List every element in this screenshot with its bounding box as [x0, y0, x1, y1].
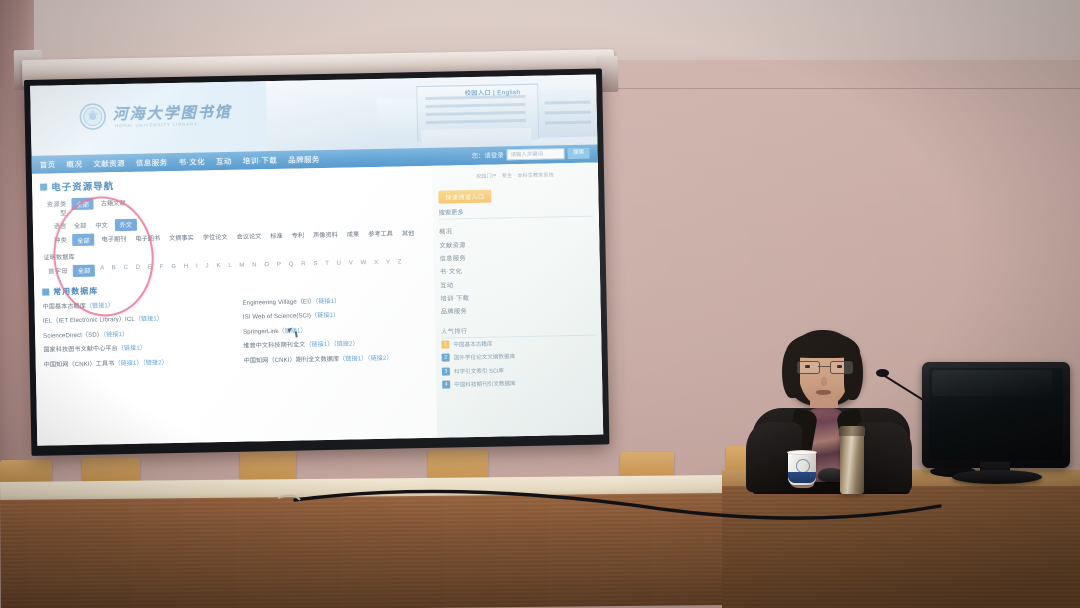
- nav-search-group: 您：请登录 请输入关键词 搜索: [472, 148, 590, 161]
- nav-item-3[interactable]: 信息服务: [136, 157, 168, 169]
- search-input[interactable]: 请输入关键词: [506, 148, 564, 160]
- section-title: 电子资源导航: [51, 178, 114, 193]
- db-item[interactable]: 中国知网（CNKI）工具书（链接1）（链接2）: [44, 355, 230, 368]
- db-item-name: 中国知网（CNKI）期刊全文数据库: [244, 355, 340, 364]
- nav-item-1[interactable]: 概况: [66, 158, 82, 169]
- filter-tag-2-4[interactable]: 学位论文: [201, 231, 230, 243]
- sidebar-link-list: 概况文献资源信息服务书·文化互动培训·下载品牌服务: [439, 222, 595, 319]
- db-item-link[interactable]: （链接1）: [315, 297, 340, 305]
- presenter-nose: [821, 377, 827, 386]
- filter-tag-2-10[interactable]: 参考工具: [366, 228, 395, 240]
- site-title-cn: 河海大学图书馆: [112, 101, 231, 124]
- filter-tag-2-11[interactable]: 其他: [400, 227, 417, 238]
- resource-navigation-panel: 电子资源导航 资源类型全部古籍文献语言全部中文外文种类全部电子期刊电子图书文摘事…: [32, 166, 437, 446]
- db-item-link[interactable]: （链接1）: [114, 359, 142, 367]
- db-item-name: 中国知网（CNKI）工具书: [44, 360, 115, 368]
- nav-item-7[interactable]: 品牌服务: [288, 154, 320, 166]
- library-crest-logo: [78, 102, 107, 131]
- db-item-name: 维普中文科技期刊全文: [243, 341, 305, 349]
- page-body: 电子资源导航 资源类型全部古籍文献语言全部中文外文种类全部电子期刊电子图书文摘事…: [32, 163, 603, 446]
- search-button[interactable]: 搜索: [567, 148, 589, 159]
- db-item-link[interactable]: （链接2）: [334, 340, 359, 348]
- filter-tag-2-6[interactable]: 标准: [268, 230, 285, 241]
- db-item[interactable]: 中国知网（CNKI）期刊全文数据库（链接1）（链接2）: [244, 351, 430, 364]
- nav-item-5[interactable]: 互动: [216, 155, 232, 166]
- monitor-stand-base: [952, 470, 1042, 484]
- db-item-link[interactable]: （链接1）: [86, 302, 114, 310]
- filter-label-3: 首字母: [42, 265, 68, 276]
- db-column-right: Engineering Village（EI）（链接1）ISI Web of S…: [242, 293, 429, 364]
- rank-list: 1中国基本古籍库2国外学位论文文摘数据库3科学引文索引 SCI库4中国科技期刊引…: [441, 335, 596, 391]
- db-item[interactable]: 中国基本古籍库（链接1）: [42, 297, 228, 310]
- microphone-head-icon: [876, 369, 889, 377]
- lecture-room-scene: 河海大学图书馆 HOHAI UNIVERSITY LIBRARY 校园入口 | …: [0, 0, 1080, 608]
- rank-number-badge: 1: [441, 341, 449, 349]
- filter-tag-2-9[interactable]: 成果: [345, 228, 362, 239]
- db-columns: 中国基本古籍库（链接1）IEL（IET Electronic Library）I…: [42, 293, 435, 368]
- filter-tag-2-8[interactable]: 声像资料: [311, 229, 340, 241]
- thermos-flask: [840, 432, 864, 494]
- cup-rim: [787, 450, 817, 455]
- building-block-3: [376, 98, 421, 141]
- db-item-link[interactable]: （链接1）: [311, 312, 339, 320]
- login-status-label[interactable]: 您：请登录: [472, 150, 504, 160]
- nav-item-2[interactable]: 文献资源: [93, 157, 125, 169]
- filter-row-2: 种类全部电子期刊电子图书文摘事实学位论文会议论文标准专利声像资料成果参考工具其他…: [41, 227, 433, 263]
- wall-seam-line: [560, 88, 1080, 89]
- rank-item-3[interactable]: 4中国科技期刊引文数据库: [442, 375, 596, 391]
- thermos-cap: [839, 426, 865, 436]
- db-item[interactable]: ScienceDirect（SD）（链接1）: [43, 326, 229, 339]
- monitor-glare: [932, 370, 1052, 396]
- filter-tag-0-0[interactable]: 全部: [71, 198, 94, 210]
- building-plaza: [421, 128, 531, 148]
- db-item[interactable]: IEL（IET Electronic Library）ICL（链接1）: [43, 312, 229, 325]
- db-item-link[interactable]: （链接2）: [367, 354, 392, 362]
- nav-item-0[interactable]: 首页: [40, 159, 56, 170]
- filter-rows: 资源类型全部古籍文献语言全部中文外文种类全部电子期刊电子图书文摘事实学位论文会议…: [40, 191, 433, 277]
- db-item-link[interactable]: （链接1）: [103, 330, 128, 338]
- chair-back-1: [0, 460, 52, 482]
- cup-logo-icon: [796, 459, 810, 473]
- db-item[interactable]: ISI Web of Science(SCI)（链接1）: [243, 308, 429, 321]
- db-marker-icon: [42, 288, 49, 295]
- sidebar-link-6[interactable]: 品牌服务: [441, 302, 595, 318]
- rank-item-label: 中国基本古籍库: [453, 340, 492, 349]
- presenter-mouth: [816, 390, 831, 395]
- filter-tag-2-5[interactable]: 会议论文: [234, 230, 263, 242]
- site-title-en: HOHAI UNIVERSITY LIBRARY: [115, 122, 198, 129]
- db-item-name: 中国基本古籍库: [42, 302, 85, 310]
- db-item-link[interactable]: （链接1）: [118, 345, 146, 353]
- db-item[interactable]: 维普中文科技期刊全文（链接1）（链接2）: [243, 337, 429, 350]
- filter-label-1: 语言: [41, 220, 67, 231]
- db-item-name: 国家科技图书文献中心平台: [43, 345, 117, 353]
- library-website: 河海大学图书馆 HOHAI UNIVERSITY LIBRARY 校园入口 | …: [30, 75, 603, 446]
- filter-tag-2-0[interactable]: 全部: [72, 234, 95, 246]
- filter-tag-3-0[interactable]: 全部: [73, 264, 96, 276]
- computer-monitor[interactable]: [922, 362, 1070, 484]
- quick-access-badge[interactable]: 快速通道入口: [438, 190, 491, 204]
- db-item-name: Engineering Village（EI）: [242, 298, 315, 306]
- filter-tag-1-0[interactable]: 全部: [72, 219, 89, 230]
- rank-number-badge: 2: [442, 354, 450, 362]
- sidebar-search-field[interactable]: 搜索更多: [439, 205, 593, 220]
- filter-tag-1-2[interactable]: 外文: [115, 218, 138, 230]
- db-item-name: SpringerLink: [243, 327, 279, 335]
- right-sidebar: 校园门户 · 新生 · 本科生教务系统 快速通道入口 搜索更多 概况文献资源信息…: [432, 163, 603, 438]
- cup-band: [788, 472, 816, 483]
- db-item-link[interactable]: （链接1）: [339, 355, 367, 363]
- campus-building-photo: [266, 75, 597, 152]
- filter-tag-2-2[interactable]: 电子图书: [133, 232, 162, 244]
- db-item[interactable]: SpringerLink（链接1）: [243, 322, 429, 335]
- rank-item-label: 科学引文索引 SCI库: [454, 366, 504, 375]
- sidebar-note: 校园门户 · 新生 · 本科生教务系统: [438, 171, 592, 181]
- nav-item-6[interactable]: 培训·下载: [243, 154, 278, 166]
- section-header: 电子资源导航: [40, 172, 432, 194]
- db-item-name: IEL（IET Electronic Library）ICL: [43, 316, 135, 325]
- podium-front-panel: [722, 486, 1080, 608]
- top-utility-links[interactable]: 校园入口 | English: [465, 87, 521, 97]
- monitor-bezel: [922, 362, 1070, 468]
- db-item-link[interactable]: （链接1）: [135, 315, 163, 323]
- nav-item-4[interactable]: 书·文化: [178, 156, 205, 168]
- filter-tag-0-1[interactable]: 古籍文献: [99, 197, 128, 209]
- presenter-glasses: [797, 361, 851, 372]
- building-block-2: [538, 89, 597, 138]
- rank-item-label: 国外学位论文文摘数据库: [454, 353, 516, 362]
- presenter: [742, 330, 932, 490]
- rank-number-badge: 3: [442, 367, 450, 375]
- db-item-link[interactable]: （链接2）: [143, 359, 168, 367]
- filter-tag-2-12[interactable]: 证明数据库: [41, 251, 76, 263]
- filter-tag-2-1[interactable]: 电子期刊: [99, 233, 128, 245]
- paper-cup: [788, 452, 816, 485]
- podium-wood-grain: [722, 486, 1080, 608]
- section-marker-icon: [40, 183, 47, 190]
- filter-tag-2-3[interactable]: 文摘事实: [167, 232, 196, 244]
- site-banner: 河海大学图书馆 HOHAI UNIVERSITY LIBRARY 校园入口 | …: [30, 75, 597, 156]
- db-item-name: ISI Web of Science(SCI): [243, 312, 311, 320]
- filter-label-2: 种类: [41, 234, 67, 245]
- db-list-title: 常用数据库: [53, 285, 98, 297]
- db-item[interactable]: Engineering Village（EI）（链接1）: [242, 293, 428, 306]
- db-item-link[interactable]: （链接1）: [305, 341, 333, 349]
- db-column-left: 中国基本古籍库（链接1）IEL（IET Electronic Library）I…: [42, 297, 229, 368]
- projection-screen-surface: 河海大学图书馆 HOHAI UNIVERSITY LIBRARY 校园入口 | …: [30, 75, 603, 446]
- projection-screen: 河海大学图书馆 HOHAI UNIVERSITY LIBRARY 校园入口 | …: [24, 68, 609, 456]
- chair-back-2: [82, 458, 140, 482]
- filter-label-0: 资源类型: [40, 198, 66, 218]
- chair-back-3: [240, 452, 296, 482]
- rank-number-badge: 4: [442, 380, 450, 388]
- db-item-name: ScienceDirect（SD）: [43, 331, 103, 339]
- db-item[interactable]: 国家科技图书文献中心平台（链接1）: [43, 341, 229, 354]
- filter-tag-1-1[interactable]: 中文: [93, 219, 110, 230]
- nav-item-list: 首页概况文献资源信息服务书·文化互动培训·下载品牌服务: [32, 154, 320, 171]
- filter-tag-2-7[interactable]: 专利: [290, 229, 307, 240]
- rank-item-label: 中国科技期刊引文数据库: [454, 379, 516, 388]
